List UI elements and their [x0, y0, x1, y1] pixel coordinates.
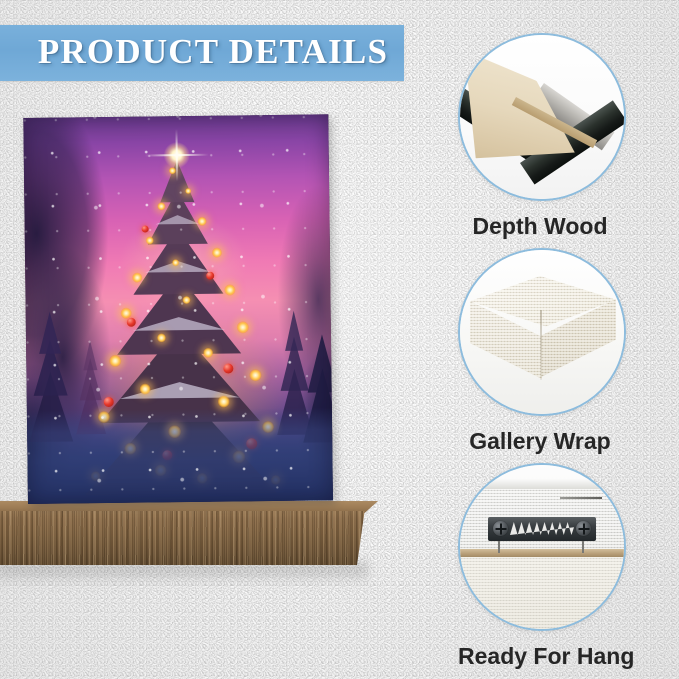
canvas-artwork: [23, 114, 333, 504]
sawtooth-hanger-icon: [460, 465, 624, 629]
hanger-screw-left: [493, 521, 508, 536]
gallery-wrap-circle: [458, 248, 626, 416]
shelf-drop-shadow: [0, 563, 368, 585]
hanger-screw-right: [576, 521, 591, 536]
wood-frame-corner-icon: [460, 35, 624, 199]
artwork-snowfall: [23, 114, 333, 504]
page-title: PRODUCT DETAILS: [0, 32, 404, 72]
product-details-infographic: PRODUCT DETAILS: [0, 0, 679, 679]
wood-shelf: [0, 501, 378, 565]
feature-label-gallery-wrap: Gallery Wrap: [458, 428, 622, 455]
feature-label-ready-for-hang: Ready For Hang: [458, 643, 622, 670]
depth-wood-circle: [458, 33, 626, 201]
ready-for-hang-circle: [458, 463, 626, 631]
shelf-wood-grain-highlights: [0, 511, 378, 565]
product-details-banner: PRODUCT DETAILS: [0, 25, 404, 81]
feature-label-depth-wood: Depth Wood: [458, 213, 622, 240]
canvas-corner-icon: [460, 250, 624, 414]
